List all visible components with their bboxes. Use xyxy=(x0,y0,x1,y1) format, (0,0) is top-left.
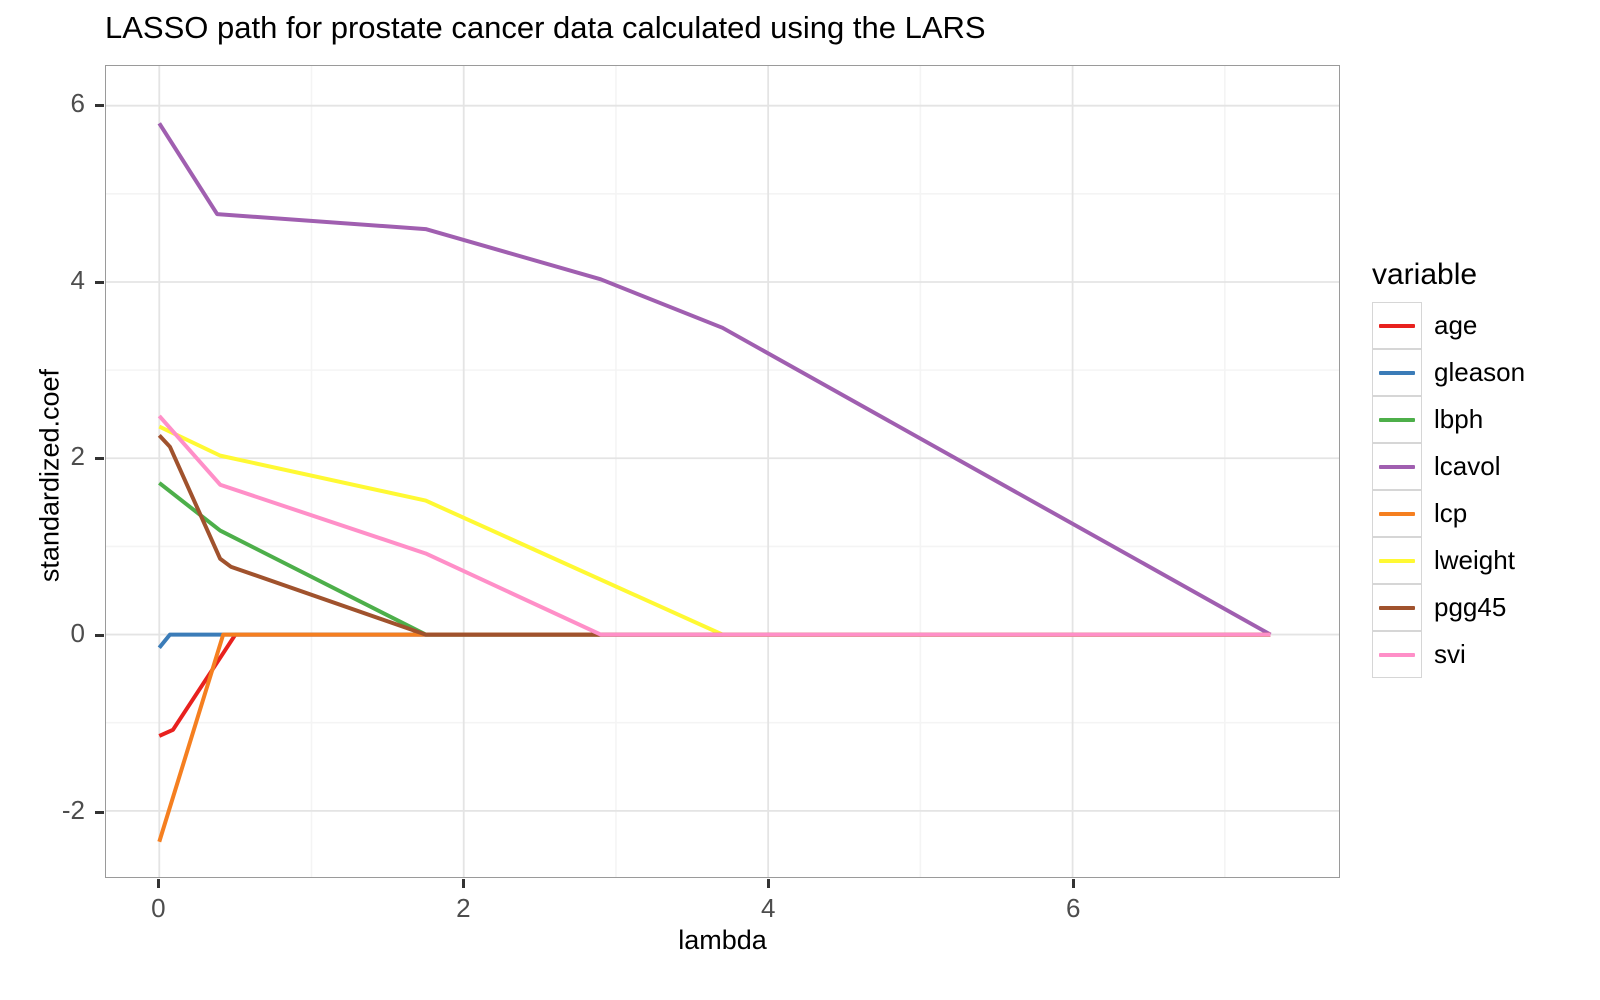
series-line-lcp xyxy=(159,635,1270,842)
legend-label: lcavol xyxy=(1434,451,1500,482)
x-tick-mark xyxy=(1072,879,1075,888)
y-tick-mark xyxy=(95,281,104,284)
series-line-lbph xyxy=(159,483,1270,635)
plot-panel xyxy=(105,65,1340,878)
x-axis-title: lambda xyxy=(0,925,1445,956)
x-tick-mark xyxy=(767,879,770,888)
y-tick-label: 6 xyxy=(0,88,85,119)
x-tick-mark xyxy=(462,879,465,888)
legend-key-box xyxy=(1372,302,1422,349)
legend-swatch-lbph xyxy=(1379,418,1415,422)
legend-key-box xyxy=(1372,584,1422,631)
legend-label: age xyxy=(1434,310,1477,341)
legend-item-gleason[interactable]: gleason xyxy=(1372,349,1587,396)
x-tick-label: 0 xyxy=(108,893,208,924)
y-tick-mark xyxy=(95,811,104,814)
legend-key-box xyxy=(1372,490,1422,537)
legend-swatch-pgg45 xyxy=(1379,606,1415,610)
legend-key-box xyxy=(1372,349,1422,396)
legend-label: svi xyxy=(1434,639,1466,670)
x-tick-label: 4 xyxy=(718,893,818,924)
legend-label: lcp xyxy=(1434,498,1467,529)
legend-key-box xyxy=(1372,396,1422,443)
legend-key-box xyxy=(1372,443,1422,490)
legend-item-lcp[interactable]: lcp xyxy=(1372,490,1587,537)
series-line-lcavol xyxy=(159,123,1270,634)
legend-item-svi[interactable]: svi xyxy=(1372,631,1587,678)
series-layer xyxy=(106,66,1339,877)
legend-item-age[interactable]: age xyxy=(1372,302,1587,349)
legend-title: variable xyxy=(1372,258,1587,292)
y-axis-title: standardized.coef xyxy=(35,276,66,676)
legend-item-lcavol[interactable]: lcavol xyxy=(1372,443,1587,490)
x-tick-label: 6 xyxy=(1023,893,1123,924)
legend-item-pgg45[interactable]: pgg45 xyxy=(1372,584,1587,631)
legend-swatch-age xyxy=(1379,324,1415,328)
legend-key-box xyxy=(1372,631,1422,678)
series-line-pgg45 xyxy=(159,435,1270,634)
legend-item-lweight[interactable]: lweight xyxy=(1372,537,1587,584)
legend-swatch-lcavol xyxy=(1379,465,1415,469)
y-tick-mark xyxy=(95,104,104,107)
x-tick-label: 2 xyxy=(413,893,513,924)
legend-label: lweight xyxy=(1434,545,1515,576)
legend-key-box xyxy=(1372,537,1422,584)
page-title: LASSO path for prostate cancer data calc… xyxy=(105,10,986,46)
legend-label: lbph xyxy=(1434,404,1483,435)
x-tick-mark xyxy=(157,879,160,888)
chart-root: LASSO path for prostate cancer data calc… xyxy=(0,0,1600,1000)
legend-label: pgg45 xyxy=(1434,592,1506,623)
legend-swatch-lweight xyxy=(1379,559,1415,563)
y-tick-mark xyxy=(95,634,104,637)
legend-items: agegleasonlbphlcavollcplweightpgg45svi xyxy=(1372,302,1587,678)
legend-label: gleason xyxy=(1434,357,1525,388)
y-tick-mark xyxy=(95,457,104,460)
legend: variable agegleasonlbphlcavollcplweightp… xyxy=(1372,258,1587,678)
legend-swatch-lcp xyxy=(1379,512,1415,516)
legend-swatch-svi xyxy=(1379,653,1415,657)
series-line-lweight xyxy=(159,427,1270,635)
series-line-age xyxy=(159,635,1270,736)
y-tick-label: -2 xyxy=(0,795,85,826)
legend-swatch-gleason xyxy=(1379,371,1415,375)
legend-item-lbph[interactable]: lbph xyxy=(1372,396,1587,443)
